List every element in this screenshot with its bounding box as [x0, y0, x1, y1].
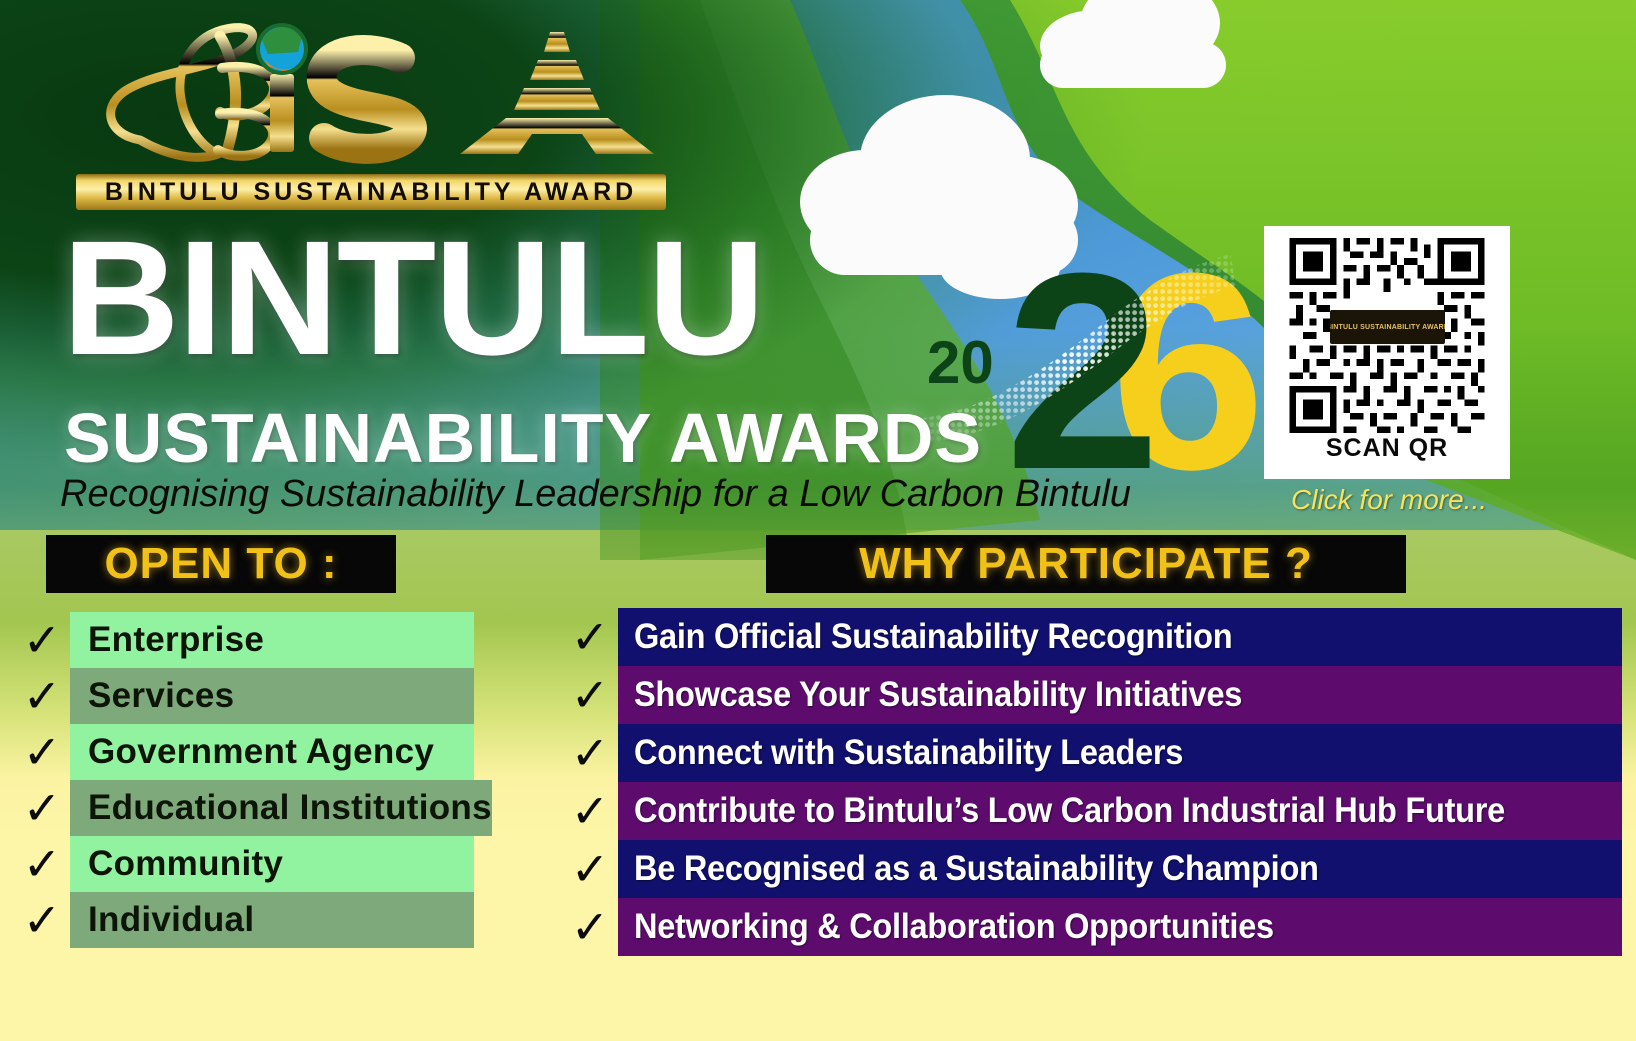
qr-code-panel[interactable]: BINTULU SUSTAINABILITY AWARD SCAN QR: [1264, 226, 1510, 479]
qr-embedded-logo-text: BINTULU SUSTAINABILITY AWARD: [1330, 324, 1445, 331]
check-icon: ✓: [14, 617, 70, 663]
list-item[interactable]: ✓ Be Recognised as a Sustainability Cham…: [562, 840, 1622, 898]
qr-click-for-more-link[interactable]: Click for more...: [1264, 484, 1514, 516]
list-item-label: Enterprise: [88, 620, 264, 660]
check-icon: ✓: [14, 841, 70, 887]
logo-wordmark-bar: BINTULU SUSTAINABILITY AWARD: [76, 174, 666, 210]
check-icon: ✓: [562, 672, 618, 718]
list-item[interactable]: ✓ Showcase Your Sustainability Initiativ…: [562, 666, 1622, 724]
pyramid-icon: [460, 32, 654, 154]
list-item-label: Networking & Collaboration Opportunities: [634, 907, 1274, 947]
open-to-list: ✓ Enterprise ✓ Services ✓ Government Age…: [14, 612, 474, 948]
check-icon: ✓: [14, 729, 70, 775]
page-title: BINTULU: [62, 228, 763, 368]
bisa-logo-mark: [70, 22, 670, 172]
list-item-label: Services: [88, 676, 234, 716]
qr-embedded-logo: BINTULU SUSTAINABILITY AWARD: [1330, 310, 1445, 344]
year-badge: 6 2 20: [915, 240, 1235, 500]
logo-wordmark-text: BINTULU SUSTAINABILITY AWARD: [105, 178, 637, 207]
open-to-banner: OPEN TO :: [46, 535, 396, 593]
list-item[interactable]: ✓ Contribute to Bintulu’s Low Carbon Ind…: [562, 782, 1622, 840]
check-icon: ✓: [14, 897, 70, 943]
why-participate-banner-label: WHY PARTICIPATE ?: [859, 539, 1313, 589]
list-item-label: Be Recognised as a Sustainability Champi…: [634, 849, 1319, 889]
check-icon: ✓: [562, 846, 618, 892]
list-item[interactable]: ✓ Educational Institutions: [14, 780, 474, 836]
list-item-label: Contribute to Bintulu’s Low Carbon Indus…: [634, 791, 1505, 831]
list-item[interactable]: ✓ Government Agency: [14, 724, 474, 780]
list-item-label: Gain Official Sustainability Recognition: [634, 617, 1232, 657]
check-icon: ✓: [562, 614, 618, 660]
list-item[interactable]: ✓ Individual: [14, 892, 474, 948]
qr-caption: SCAN QR: [1264, 434, 1510, 463]
why-participate-banner: WHY PARTICIPATE ?: [766, 535, 1406, 593]
bisa-logo[interactable]: BINTULU SUSTAINABILITY AWARD: [70, 22, 670, 217]
list-item[interactable]: ✓ Gain Official Sustainability Recogniti…: [562, 608, 1622, 666]
list-item[interactable]: ✓ Enterprise: [14, 612, 474, 668]
check-icon: ✓: [562, 904, 618, 950]
list-item-label: Government Agency: [88, 732, 434, 772]
list-item[interactable]: ✓ Community: [14, 836, 474, 892]
check-icon: ✓: [14, 785, 70, 831]
page-subtitle: SUSTAINABILITY AWARDS: [64, 398, 982, 478]
list-item[interactable]: ✓ Networking & Collaboration Opportuniti…: [562, 898, 1622, 956]
globe-icon: [258, 25, 306, 73]
list-item-label: Individual: [88, 900, 254, 940]
list-item[interactable]: ✓ Services: [14, 668, 474, 724]
check-icon: ✓: [562, 788, 618, 834]
why-participate-list: ✓ Gain Official Sustainability Recogniti…: [562, 608, 1622, 956]
list-item-label: Connect with Sustainability Leaders: [634, 733, 1183, 773]
list-item-label: Showcase Your Sustainability Initiatives: [634, 675, 1242, 715]
list-item[interactable]: ✓ Connect with Sustainability Leaders: [562, 724, 1622, 782]
halftone-swoosh: [915, 240, 1235, 500]
check-icon: ✓: [14, 673, 70, 719]
check-icon: ✓: [562, 730, 618, 776]
list-item-label: Community: [88, 844, 283, 884]
open-to-banner-label: OPEN TO :: [104, 539, 337, 589]
poster-canvas: BINTULU SUSTAINABILITY AWARD BINTULU SUS…: [0, 0, 1636, 1041]
list-item-label: Educational Institutions: [88, 788, 492, 828]
